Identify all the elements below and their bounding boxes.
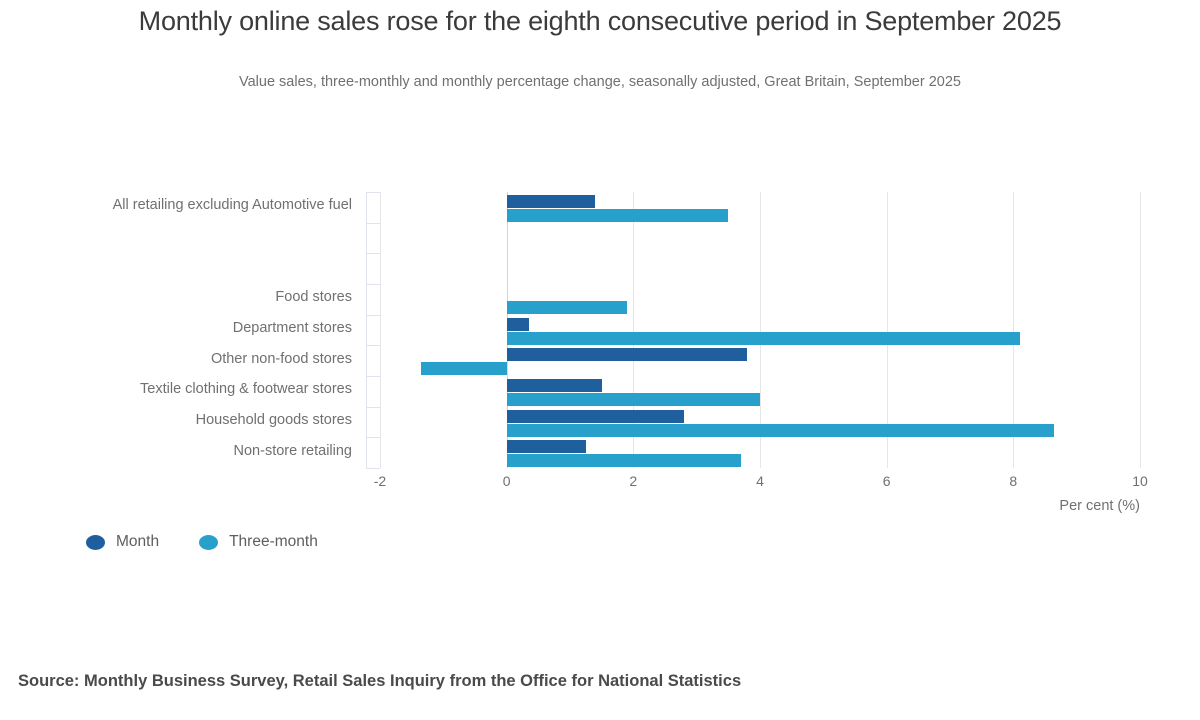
y-axis-tick <box>366 345 380 346</box>
x-axis-tick-label: 4 <box>756 473 764 489</box>
y-axis-label: Household goods stores <box>196 412 352 428</box>
legend-item[interactable]: Month <box>86 533 159 551</box>
y-axis-tick <box>366 253 380 254</box>
y-axis-tick <box>366 468 380 469</box>
bar-month <box>507 410 684 423</box>
y-axis-tick-edge <box>366 284 367 315</box>
x-axis-ticks: -20246810 <box>0 473 1200 497</box>
y-axis-tick-edge <box>366 376 367 407</box>
bar-month <box>507 379 602 392</box>
y-axis-tick-edge <box>366 253 367 284</box>
bar-month <box>507 348 748 361</box>
x-axis-tick-label: 8 <box>1009 473 1017 489</box>
x-axis-tick-label: -2 <box>374 473 386 489</box>
y-axis-tick <box>366 407 380 408</box>
x-axis-tick-label: 10 <box>1132 473 1148 489</box>
bar-month <box>507 318 529 331</box>
x-axis-title: Per cent (%) <box>0 498 1140 514</box>
plot-area <box>380 192 1140 468</box>
y-axis-tick <box>366 284 380 285</box>
y-axis-tick-edge <box>366 407 367 438</box>
y-axis-label: Non-store retailing <box>234 443 352 459</box>
chart-subtitle: Value sales, three-monthly and monthly p… <box>60 74 1140 90</box>
bar-three-month <box>507 454 741 467</box>
gridline <box>1140 192 1141 468</box>
y-axis-tick <box>366 192 380 193</box>
chart-title: Monthly online sales rose for the eighth… <box>60 6 1140 38</box>
chart-legend: MonthThree-month <box>86 533 318 551</box>
bar-month <box>507 440 586 453</box>
y-axis-labels: All retailing excluding Automotive fuelF… <box>0 192 366 468</box>
bar-three-month <box>507 332 1020 345</box>
x-axis-tick-label: 0 <box>503 473 511 489</box>
legend-item[interactable]: Three-month <box>199 533 318 551</box>
y-axis-tick-edge <box>366 192 367 223</box>
legend-marker-icon <box>199 535 218 550</box>
bar-three-month <box>421 362 507 375</box>
y-axis-tick-edge <box>366 315 367 346</box>
source-note: Source: Monthly Business Survey, Retail … <box>18 672 741 691</box>
x-axis-tick-label: 2 <box>629 473 637 489</box>
bar-month <box>507 195 596 208</box>
chart-container: Monthly online sales rose for the eighth… <box>0 0 1200 720</box>
y-axis-tick <box>366 223 380 224</box>
bar-three-month <box>507 209 729 222</box>
y-axis-tick <box>366 437 380 438</box>
y-axis-tick-edge <box>366 223 367 254</box>
bar-three-month <box>507 301 627 314</box>
legend-marker-icon <box>86 535 105 550</box>
legend-label: Month <box>116 533 159 551</box>
y-axis-label: Department stores <box>233 320 352 336</box>
y-axis-label: All retailing excluding Automotive fuel <box>113 197 352 213</box>
y-axis-tick <box>366 376 380 377</box>
x-axis-tick-label: 6 <box>883 473 891 489</box>
y-axis-tick-edge <box>366 345 367 376</box>
legend-label: Three-month <box>229 533 318 551</box>
gridline <box>380 192 381 468</box>
y-axis-label: Other non-food stores <box>211 351 352 367</box>
bar-three-month <box>507 424 1055 437</box>
y-axis-tick <box>366 315 380 316</box>
y-axis-label: Textile clothing & footwear stores <box>140 381 352 397</box>
y-axis-label: Food stores <box>275 289 352 305</box>
y-axis-tick-edge <box>366 437 367 468</box>
bar-three-month <box>507 393 760 406</box>
